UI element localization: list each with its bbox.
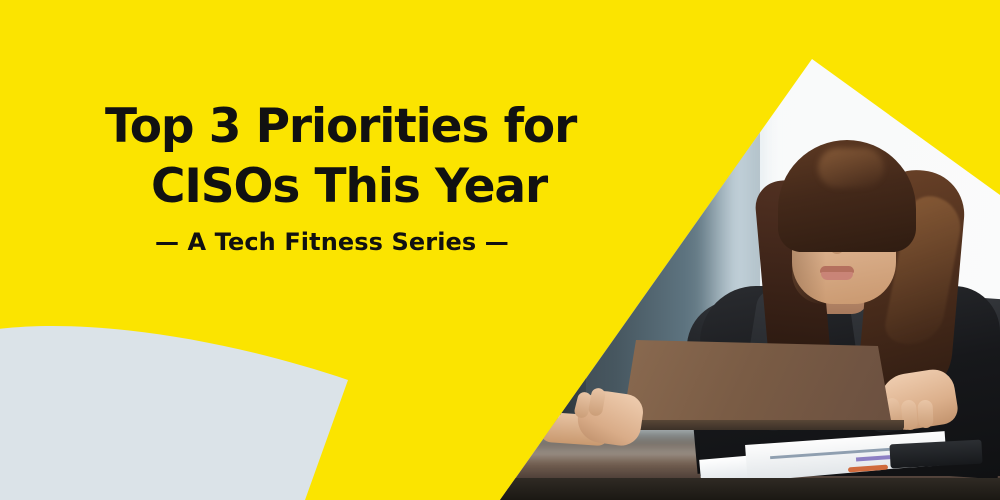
photo-hair-highlight bbox=[818, 148, 884, 188]
photo-laptop-lid bbox=[622, 340, 892, 426]
promo-banner: Top 3 Priorities for CISOs This Year — A… bbox=[0, 0, 1000, 500]
banner-subtitle: — A Tech Fitness Series — bbox=[155, 228, 509, 256]
photo-phone bbox=[889, 440, 982, 469]
photo-lower-lip bbox=[821, 272, 853, 280]
banner-text-block: Top 3 Priorities for CISOs This Year — A… bbox=[0, 0, 660, 500]
photo-finger bbox=[918, 400, 934, 429]
headline-line-1: Top 3 Priorities for bbox=[105, 99, 576, 154]
page-title: Top 3 Priorities for CISOs This Year bbox=[105, 97, 645, 217]
headline-line-2: CISOs This Year bbox=[105, 157, 645, 217]
